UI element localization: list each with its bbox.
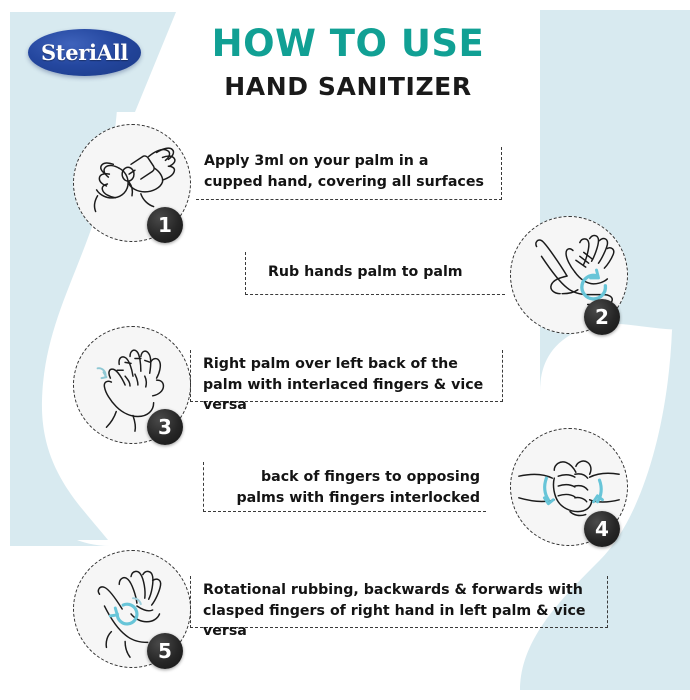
step-3-text: Right palm over left back of the palm wi… bbox=[190, 350, 503, 402]
step-2-text: Rub hands palm to palm bbox=[245, 252, 505, 295]
logo-wordmark: SteriAll bbox=[28, 29, 141, 76]
right-top-wave-shape bbox=[540, 10, 690, 392]
bottom-left-accent-shape bbox=[10, 470, 110, 546]
step-1-number-badge: 1 bbox=[147, 207, 183, 243]
step-4-number-badge: 4 bbox=[584, 511, 620, 547]
brand-logo: SteriAll bbox=[28, 29, 141, 76]
page-title: HOW TO USE bbox=[188, 25, 508, 62]
step-4-text: back of fingers to opposing palms with f… bbox=[203, 462, 486, 512]
step-3-number-badge: 3 bbox=[147, 409, 183, 445]
infographic-page: SteriAll HOW TO USE HAND SANITIZER bbox=[0, 0, 690, 700]
step-1-text: Apply 3ml on your palm in a cupped hand,… bbox=[196, 147, 502, 200]
page-subtitle: HAND SANITIZER bbox=[188, 74, 508, 99]
step-2-number-badge: 2 bbox=[584, 299, 620, 335]
left-wave-shape bbox=[10, 12, 120, 540]
step-5-text: Rotational rubbing, backwards & forwards… bbox=[190, 576, 608, 628]
step-5-number-badge: 5 bbox=[147, 633, 183, 669]
